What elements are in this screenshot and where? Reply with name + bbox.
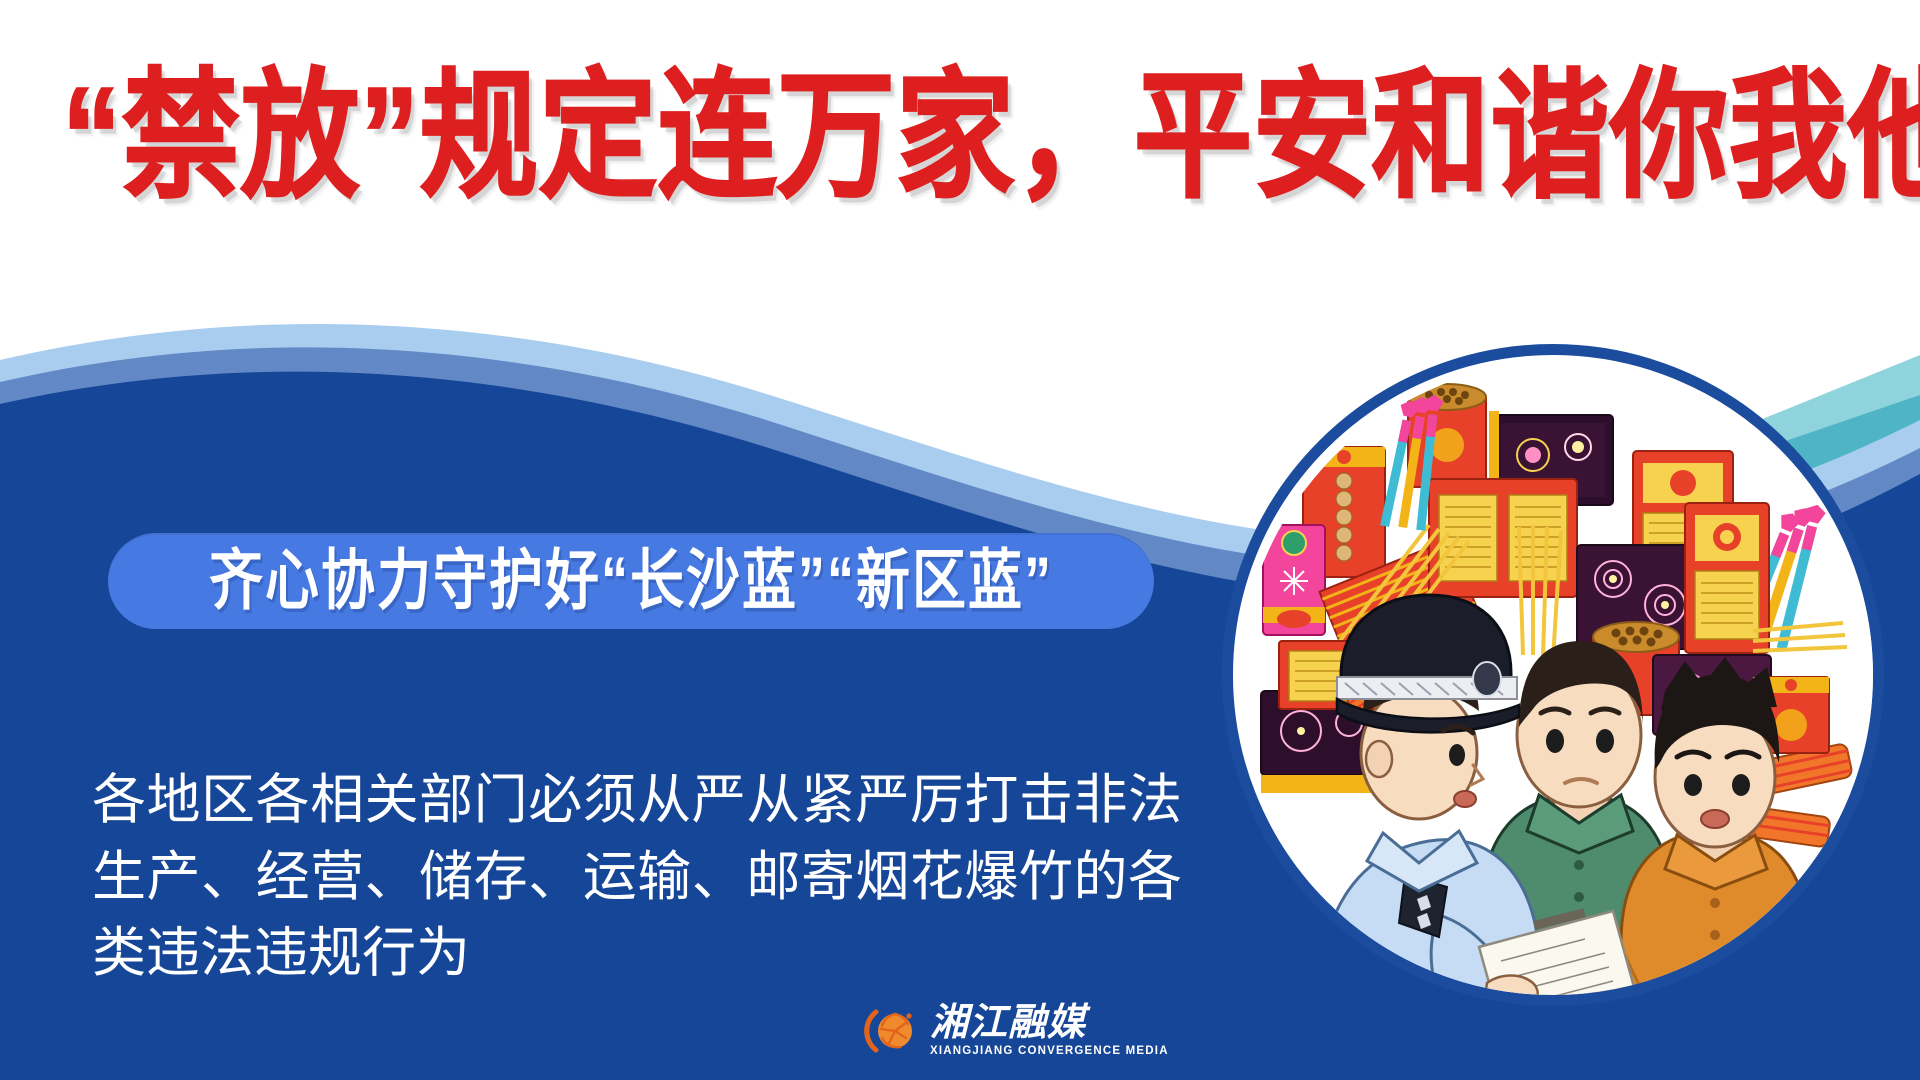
body-paragraph: 各地区各相关部门必须从严从紧严厉打击非法生产、经营、储存、运输、邮寄烟花爆竹的各… bbox=[92, 762, 1182, 992]
poster-root: “禁放”规定连万家，平安和谐你我他 齐心协力守护好“长沙蓝”“新区蓝” 各地区各… bbox=[0, 0, 1920, 1080]
slogan-pill: 齐心协力守护好“长沙蓝”“新区蓝” bbox=[108, 533, 1154, 629]
logo-english-name: XIANGJIANG CONVERGENCE MEDIA bbox=[930, 1046, 1169, 1058]
slogan-pill-text: 齐心协力守护好“长沙蓝”“新区蓝” bbox=[209, 548, 1053, 614]
xiangjiang-swirl-icon bbox=[862, 1002, 920, 1060]
logo-text-block: 湘江融媒 XIANGJIANG CONVERGENCE MEDIA bbox=[930, 1004, 1169, 1058]
officer-hand bbox=[1485, 976, 1538, 1007]
logo-chinese-name: 湘江融媒 bbox=[930, 1004, 1169, 1042]
illustration-circle bbox=[1222, 344, 1884, 1006]
brand-logo: 湘江融媒 XIANGJIANG CONVERGENCE MEDIA bbox=[862, 998, 1112, 1064]
illustration-artwork bbox=[1233, 355, 1884, 1006]
headline: “禁放”规定连万家，平安和谐你我他 bbox=[62, 62, 1872, 212]
headline-text: “禁放”规定连万家，平安和谐你我他 bbox=[62, 67, 1920, 206]
illustration-ring bbox=[1222, 344, 1884, 1006]
